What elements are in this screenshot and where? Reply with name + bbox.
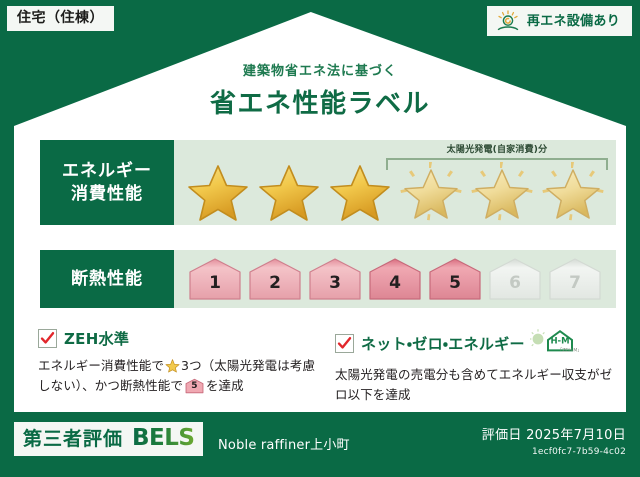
zehm-logo: H-M 「ZEH-M」 — [530, 328, 586, 358]
inline-star-icon — [165, 358, 180, 373]
star-filled — [255, 160, 323, 222]
zeh-text-part1: エネルギー消費性能で — [38, 358, 164, 373]
zeh-text-part3: を達成 — [206, 378, 244, 393]
criterion-net-zero-header: ネット・ゼロ・エネルギー H-M 「ZEH-M」 — [335, 328, 618, 358]
energy-performance-row: エネルギー 消費性能 太陽光発電(自家消費)分 — [40, 140, 616, 225]
third-party-label: 第三者評価 — [23, 430, 123, 449]
inline-grade-number: 5 — [185, 382, 204, 391]
inline-grade-house-icon: 5 — [185, 378, 204, 394]
insulation-grade-5: 5 — [427, 256, 483, 302]
zeh-description: エネルギー消費性能で3つ（太陽光発電は考慮しない）、かつ断熱性能で5を達成 — [38, 356, 321, 397]
insulation-performance-value: 1 2 3 — [174, 250, 616, 308]
criterion-net-zero: ネット・ゼロ・エネルギー H-M 「ZEH-M」 太陽光 — [335, 328, 618, 406]
bels-label: BELS — [132, 427, 194, 450]
star-rating — [174, 160, 616, 222]
net-zero-title: ネット・ゼロ・エネルギー — [361, 333, 525, 354]
star-filled — [184, 160, 252, 222]
energy-label-line2: 消費性能 — [71, 183, 143, 206]
evaluation-info: 評価日 2025年7月10日 1ecf0fc7-7b59-4c02 — [482, 424, 626, 457]
zeh-title: ZEH水準 — [64, 328, 129, 349]
grade-number: 3 — [307, 275, 363, 292]
top-bar: 住宅（住棟） 再エネ設備あり — [0, 0, 640, 46]
star-filled — [326, 160, 394, 222]
grade-number: 6 — [487, 275, 543, 292]
criterion-zeh: ZEH水準 エネルギー消費性能で3つ（太陽光発電は考慮しない）、かつ断熱性能で5… — [38, 328, 321, 406]
footer: 第三者評価 BELS Noble raffiner上小町 評価日 2025年7月… — [0, 412, 640, 477]
grade-number: 2 — [247, 275, 303, 292]
bels-certification-tag: 第三者評価 BELS — [14, 422, 203, 456]
star-solar — [397, 160, 465, 222]
energy-performance-label: エネルギー 消費性能 — [40, 140, 174, 225]
grade-number: 7 — [547, 275, 603, 292]
solar-bracket-caption: 太陽光発電(自家消費)分 — [386, 142, 608, 155]
criterion-zeh-header: ZEH水準 — [38, 328, 321, 349]
grade-number: 4 — [367, 275, 423, 292]
insulation-grade-6: 6 — [487, 256, 543, 302]
check-icon — [337, 336, 352, 351]
evaluation-id: 1ecf0fc7-7b59-4c02 — [482, 447, 626, 457]
title-block: 建築物省エネ法に基づく 省エネ性能ラベル — [22, 60, 618, 120]
zehm-logo-text: H-M — [550, 337, 569, 347]
energy-performance-label: 住宅（住棟） 再エネ設備あり 建築物省エネ法に基づく 省エネ性能ラベル — [0, 0, 640, 477]
title-subtitle: 建築物省エネ法に基づく — [22, 60, 618, 79]
grade-number: 1 — [187, 275, 243, 292]
net-zero-checkbox[interactable] — [335, 334, 354, 353]
energy-performance-value: 太陽光発電(自家消費)分 — [174, 140, 616, 225]
star-solar — [539, 160, 607, 222]
energy-label-line1: エネルギー — [62, 160, 152, 183]
insulation-grade-4: 4 — [367, 256, 423, 302]
building-name: Noble raffiner上小町 — [218, 434, 350, 453]
insulation-grade-scale: 1 2 3 — [174, 250, 616, 308]
zeh-checkbox[interactable] — [38, 329, 57, 348]
insulation-grade-7: 7 — [547, 256, 603, 302]
evaluation-date: 評価日 2025年7月10日 — [482, 424, 626, 443]
criteria-section: ZEH水準 エネルギー消費性能で3つ（太陽光発電は考慮しない）、かつ断熱性能で5… — [38, 328, 618, 406]
renewable-badge-label: 再エネ設備あり — [527, 15, 620, 28]
building-type-tag: 住宅（住棟） — [7, 6, 114, 31]
insulation-grade-1: 1 — [187, 256, 243, 302]
star-solar — [468, 160, 536, 222]
insulation-grade-3: 3 — [307, 256, 363, 302]
sun-solar-icon — [495, 10, 521, 32]
grade-number: 5 — [427, 275, 483, 292]
zehm-logo-caption: 「ZEH-M」 — [557, 348, 581, 354]
title-main: 省エネ性能ラベル — [22, 83, 618, 120]
check-icon — [40, 331, 55, 346]
insulation-performance-row: 断熱性能 — [40, 250, 616, 308]
renewable-equipment-badge: 再エネ設備あり — [487, 6, 632, 36]
net-zero-description: 太陽光発電の売電分も含めてエネルギー収支がゼロ以下を達成 — [335, 365, 618, 406]
insulation-performance-label: 断熱性能 — [40, 250, 174, 308]
label-content: 建築物省エネ法に基づく 省エネ性能ラベル エネルギー 消費性能 太陽光発電(自家… — [22, 16, 618, 408]
insulation-grade-2: 2 — [247, 256, 303, 302]
